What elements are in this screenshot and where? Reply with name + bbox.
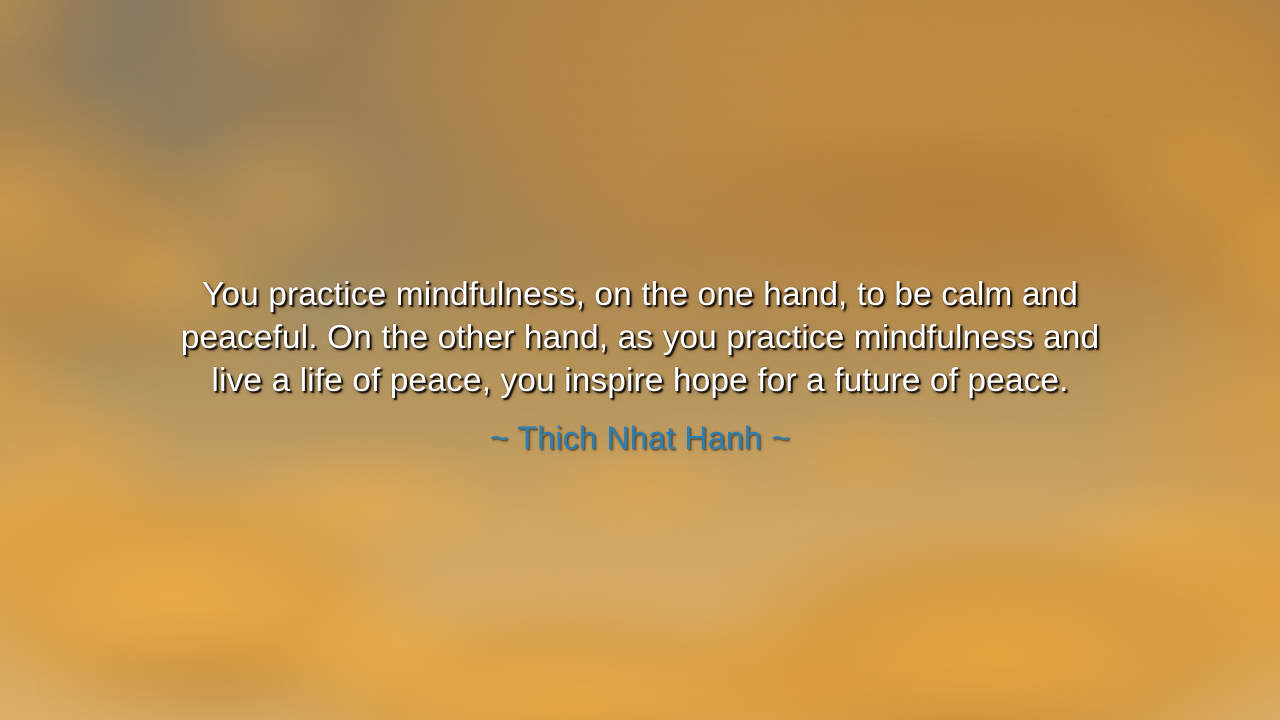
quote-attribution: ~ Thich Nhat Hanh ~ — [36, 402, 1244, 458]
quote-slide: You practice mindfulness, on the one han… — [0, 0, 1280, 720]
quote-text: You practice mindfulness, on the one han… — [36, 273, 1244, 402]
quote-content-block: You practice mindfulness, on the one han… — [0, 273, 1280, 458]
